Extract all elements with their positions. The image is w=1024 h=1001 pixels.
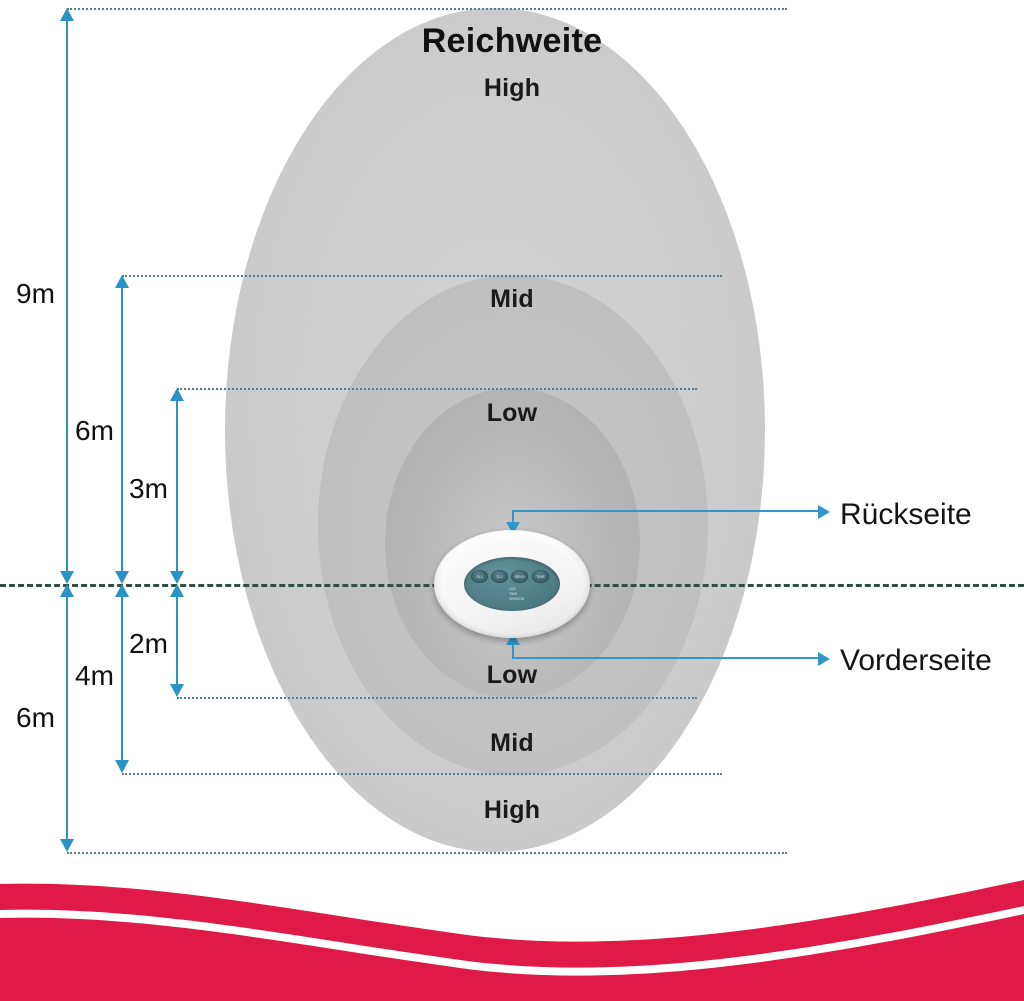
guide-line-2m	[177, 697, 697, 699]
callout-label-back: Rückseite	[840, 498, 972, 532]
callout-leader-front-vertical	[512, 645, 514, 659]
dim-label-3m: 3m	[126, 473, 171, 505]
guide-line-6m-front	[67, 852, 787, 854]
dim-stem-6m-front	[66, 590, 68, 848]
zone-label-low-front: Low	[412, 663, 612, 688]
dim-arrowhead-4m-bottom	[115, 760, 129, 773]
callout-arrow-front-right	[818, 652, 830, 666]
dim-arrowhead-6m-front-top	[60, 584, 74, 597]
dim-label-6m-back: 6m	[72, 415, 117, 447]
dim-label-6m-front: 6m	[13, 702, 58, 734]
guide-line-6m-back	[122, 275, 722, 277]
dim-arrowhead-6m-front-bottom	[60, 839, 74, 852]
dim-stem-4m	[121, 590, 123, 769]
zone-label-low-back: Low	[412, 401, 612, 426]
dim-stem-9m	[66, 14, 68, 580]
callout-leader-back-horizontal	[513, 510, 818, 512]
dim-arrowhead-2m-bottom	[170, 684, 184, 697]
dim-arrowhead-3m-bottom	[170, 571, 184, 584]
dim-arrowhead-6m-back-bottom	[115, 571, 129, 584]
dim-arrowhead-9m-top	[60, 8, 74, 21]
dim-label-2m: 2m	[126, 628, 171, 660]
dim-stem-6m-back	[121, 281, 123, 580]
callout-leader-front-horizontal	[513, 657, 818, 659]
device-control-panel: SL1 SL2 SENS TIME LUX TIME SENS/ON	[464, 557, 560, 611]
dim-arrowhead-2m-top	[170, 584, 184, 597]
device-dial-sl2[interactable]: SL2	[491, 570, 508, 583]
sensor-device: SL1 SL2 SENS TIME LUX TIME SENS/ON	[434, 530, 590, 638]
device-note-time: TIME	[509, 592, 517, 596]
page-title: Reichweite	[312, 22, 712, 61]
dim-arrowhead-6m-back-top	[115, 275, 129, 288]
device-note-sens: SENS/ON	[509, 597, 524, 601]
device-note-lux: LUX	[509, 587, 516, 591]
device-dial-sl1[interactable]: SL1	[471, 570, 488, 583]
guide-line-4m	[122, 773, 722, 775]
dim-stem-2m	[176, 590, 178, 693]
dim-arrowhead-4m-top	[115, 584, 129, 597]
guide-line-9m	[67, 8, 787, 10]
device-dial-time[interactable]: TIME	[532, 570, 549, 583]
zone-label-high-front: High	[412, 798, 612, 823]
dim-label-4m: 4m	[72, 660, 117, 692]
dim-label-9m: 9m	[13, 278, 58, 310]
zone-label-mid-back: Mid	[412, 287, 612, 312]
guide-line-3m	[177, 388, 697, 390]
brand-wave-footer	[0, 866, 1024, 1001]
callout-label-front: Vorderseite	[840, 644, 992, 678]
device-dial-sens[interactable]: SENS	[511, 570, 528, 583]
callout-arrow-back-right	[818, 505, 830, 519]
dim-stem-3m	[176, 394, 178, 580]
zone-label-high-back: High	[412, 76, 612, 101]
zone-label-mid-front: Mid	[412, 731, 612, 756]
dim-arrowhead-3m-top	[170, 388, 184, 401]
range-diagram: Reichweite High Mid Low Low Mid High 9m …	[0, 0, 1024, 1001]
dim-arrowhead-9m-bottom	[60, 571, 74, 584]
